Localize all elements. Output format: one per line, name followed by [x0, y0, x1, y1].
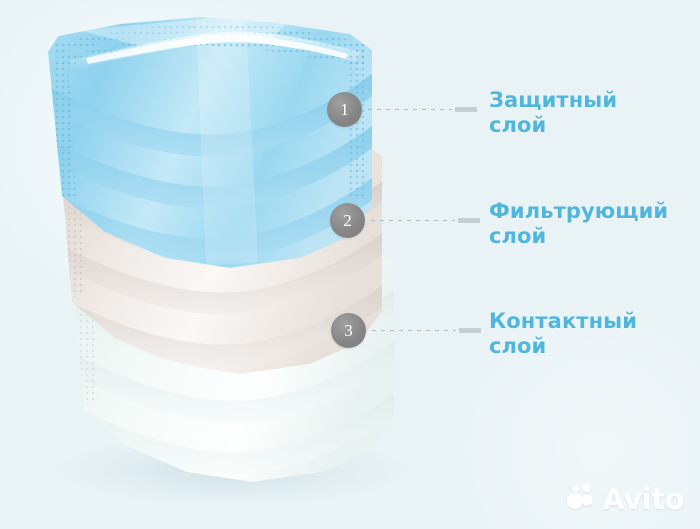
callout-2: 2	[330, 203, 480, 238]
avito-watermark: Avito	[566, 483, 684, 516]
leader-cap-1	[455, 107, 477, 112]
callout-3: 3	[331, 313, 481, 348]
marker-3[interactable]: 3	[331, 313, 366, 348]
label-filtering-layer: Фильтрующий слой	[489, 199, 668, 249]
avito-dots-icon	[566, 483, 596, 516]
avito-wordmark: Avito	[602, 485, 684, 514]
leader-line-2	[371, 220, 455, 221]
illustration-canvas: 1 Защитный слой 2 Фильтрующий слой 3 Кон…	[0, 0, 700, 529]
callout-1: 1	[327, 92, 477, 127]
mask-illustration	[0, 0, 420, 500]
leader-line-1	[368, 109, 452, 110]
label-contact-layer: Контактный слой	[489, 309, 637, 359]
marker-2[interactable]: 2	[330, 203, 365, 238]
label-protective-layer: Защитный слой	[489, 88, 617, 138]
leader-cap-2	[458, 218, 480, 223]
marker-1[interactable]: 1	[327, 92, 362, 127]
leader-line-3	[372, 330, 456, 331]
leader-cap-3	[459, 328, 481, 333]
